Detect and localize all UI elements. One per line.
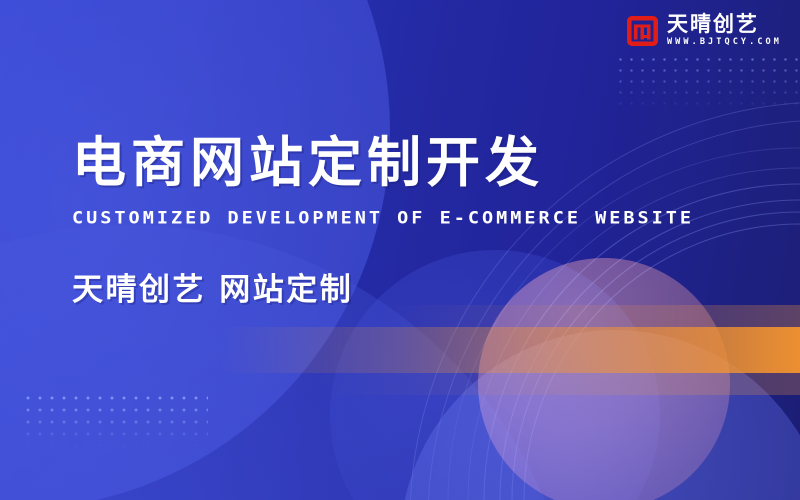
headline-title: 电商网站定制开发 [72,132,694,194]
dot-grid-bottomleft [22,392,208,448]
logo-text-block: 天晴创艺 WWW.BJTQCY.COM [667,13,782,48]
banner-content: 电商网站定制开发 CUSTOMIZED DEVELOPMENT OF E-COM… [72,132,694,310]
dot-grid-topright [615,54,800,112]
promotional-banner: 天晴创艺 WWW.BJTQCY.COM 电商网站定制开发 CUSTOMIZED … [0,0,800,500]
tagline-chinese: 天晴创艺 网站定制 [72,270,694,310]
headline-subtitle-english: CUSTOMIZED DEVELOPMENT OF E-COMMERCE WEB… [72,208,694,230]
tianqing-chuangyi-logo-mark-icon [627,15,658,47]
logo-website-url: WWW.BJTQCY.COM [667,37,782,48]
orange-bar-main [220,327,800,373]
brand-logo[interactable]: 天晴创艺 WWW.BJTQCY.COM [627,13,782,48]
logo-company-name: 天晴创艺 [667,13,759,36]
orange-bar-faint-bottom [320,373,800,395]
